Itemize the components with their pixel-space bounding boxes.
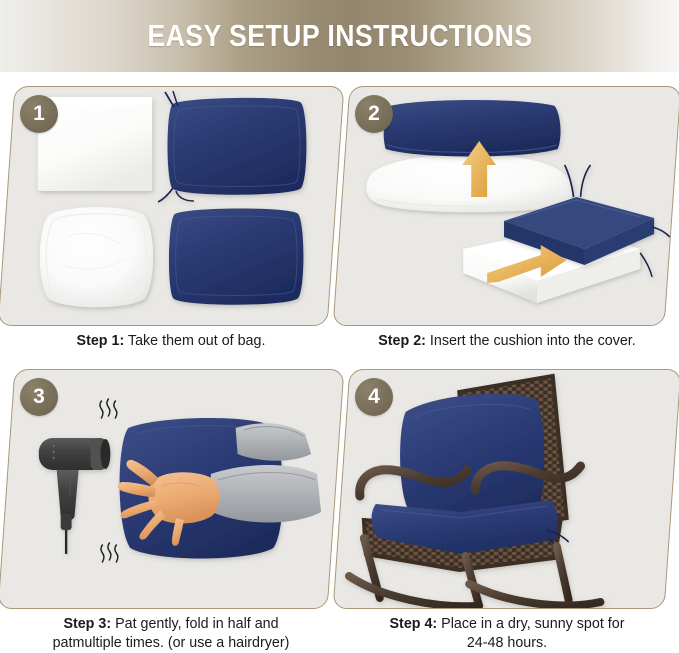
cover-tie — [581, 165, 591, 197]
step-panel-3-art — [7, 370, 335, 608]
navy-seat-cover — [169, 208, 303, 304]
steps-grid: 1 Step 1: Take them out of bag. — [0, 72, 679, 652]
step-card-2: 2 Step 2: Insert the cushion into the co… — [341, 86, 673, 358]
step2-illustration — [342, 87, 672, 325]
step-caption-2-text: Insert the cushion into the cover. — [426, 333, 636, 349]
navy-back-cover — [158, 91, 306, 202]
step-panel-2-art — [342, 87, 672, 325]
header-banner: EASY SETUP INSTRUCTIONS — [0, 0, 679, 72]
step-caption-4-label: Step 4: — [390, 616, 438, 632]
step-caption-3-line2: patmultiple times. (or use a hairdryer) — [6, 634, 336, 653]
step-badge-3: 3 — [20, 378, 58, 416]
cover-tie — [652, 227, 670, 237]
white-pillow-insert — [40, 207, 153, 307]
step-caption-4-text: Place in a dry, sunny spot for — [437, 616, 624, 632]
hairdryer-icon — [39, 438, 111, 554]
navy-back-cushion — [400, 394, 544, 523]
step-card-4: 4 Step 4: Place in a dry, sunny spot for… — [341, 369, 673, 619]
step-badge-4: 4 — [355, 378, 393, 416]
sleeved-arm-upper — [236, 423, 312, 461]
step3-illustration — [7, 370, 335, 608]
cover-tie — [165, 92, 174, 107]
step-card-1: 1 Step 1: Take them out of bag. — [6, 86, 336, 358]
step-caption-2: Step 2: Insert the cushion into the cove… — [341, 332, 673, 351]
step-panel-4-art — [342, 370, 672, 608]
step4-illustration — [342, 370, 672, 608]
step-card-3: 3 Step 3: Pat gently, fold in half and p… — [6, 369, 336, 619]
step-caption-4: Step 4: Place in a dry, sunny spot for 2… — [341, 615, 673, 653]
step-caption-4-line2: 24-48 hours. — [341, 634, 673, 653]
step-caption-3-text: Pat gently, fold in half and — [111, 616, 278, 632]
motion-squiggles — [100, 399, 118, 562]
step-caption-3-label: Step 3: — [63, 616, 111, 632]
step-caption-4-line1: Step 4: Place in a dry, sunny spot for — [341, 615, 673, 634]
navy-cover-over-pillow — [384, 100, 561, 157]
step-caption-2-label: Step 2: — [378, 333, 426, 349]
page-title: EASY SETUP INSTRUCTIONS — [147, 18, 532, 54]
cover-tie — [158, 188, 173, 202]
step-caption-3-line1: Step 3: Pat gently, fold in half and — [6, 615, 336, 634]
rocker-left — [349, 576, 475, 606]
step1-illustration — [7, 87, 335, 325]
step-badge-1: 1 — [20, 95, 58, 133]
cover-tie — [640, 253, 652, 277]
step-caption-3: Step 3: Pat gently, fold in half and pat… — [6, 615, 336, 653]
step-badge-2: 2 — [355, 95, 393, 133]
step-caption-1: Step 1: Take them out of bag. — [6, 332, 336, 351]
step-panel-1-art — [7, 87, 335, 325]
rocker-right — [469, 584, 600, 605]
step-caption-1-label: Step 1: — [77, 333, 125, 349]
step-caption-1-text: Take them out of bag. — [124, 333, 265, 349]
